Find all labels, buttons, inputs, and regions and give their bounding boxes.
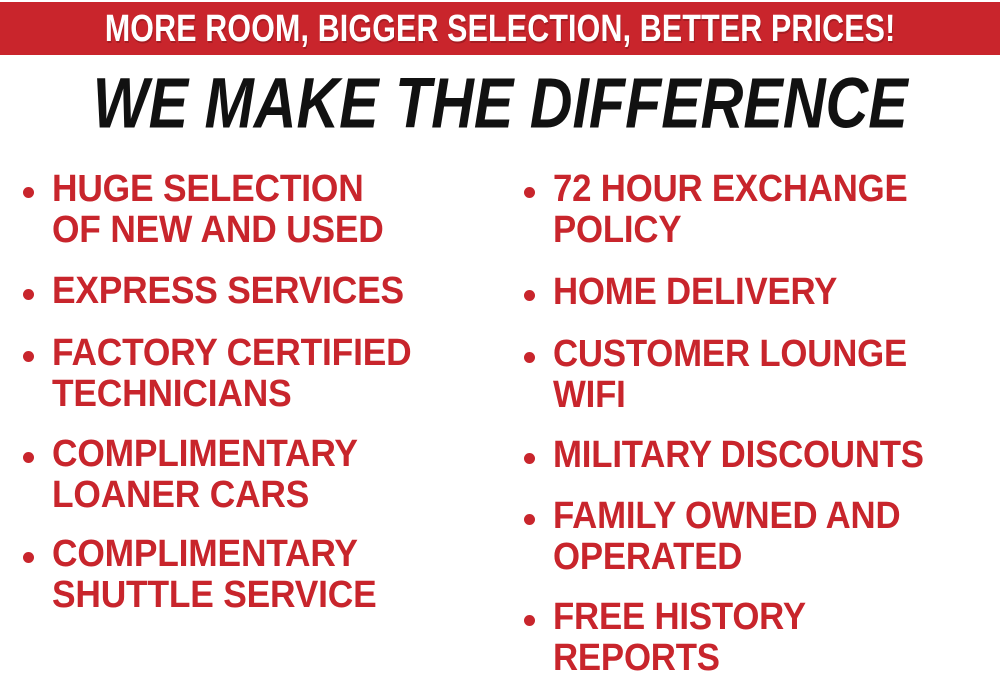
benefit-item: COMPLIMENTARY SHUTTLE SERVICE <box>14 534 401 616</box>
promo-banner-text: MORE ROOM, BIGGER SELECTION, BETTER PRIC… <box>105 10 896 48</box>
benefit-label: 72 HOUR EXCHANGE POLICY <box>553 169 908 251</box>
bullet-dot-icon <box>23 289 34 300</box>
bullet-dot-icon <box>524 615 535 626</box>
benefit-label: FACTORY CERTIFIED TECHNICIANS <box>52 333 411 415</box>
benefit-item: COMPLIMENTARY LOANER CARS <box>14 434 381 516</box>
bullet-dot-icon <box>23 552 34 563</box>
benefit-item: HUGE SELECTION OF NEW AND USED <box>14 169 409 251</box>
benefit-item: MILITARY DISCOUNTS <box>515 435 958 476</box>
benefit-label: HUGE SELECTION OF NEW AND USED <box>52 169 384 251</box>
benefit-item: HOME DELIVERY <box>515 272 864 313</box>
bullet-dot-icon <box>524 514 535 525</box>
benefit-label: HOME DELIVERY <box>553 272 837 313</box>
benefit-item: 72 HOUR EXCHANGE POLICY <box>515 169 940 251</box>
bullet-dot-icon <box>524 187 535 198</box>
advertisement-poster: MORE ROOM, BIGGER SELECTION, BETTER PRIC… <box>0 0 1000 694</box>
benefit-item: EXPRESS SERVICES <box>14 271 430 312</box>
bullet-dot-icon <box>524 352 535 363</box>
benefit-label: EXPRESS SERVICES <box>52 271 404 312</box>
bullet-dot-icon <box>23 351 34 362</box>
benefits-columns: HUGE SELECTION OF NEW AND USED EXPRESS S… <box>0 155 1000 694</box>
benefit-item: FACTORY CERTIFIED TECHNICIANS <box>14 333 439 415</box>
bullet-dot-icon <box>23 187 34 198</box>
benefit-item: FREE HISTORY REPORTS <box>515 597 829 679</box>
bullet-dot-icon <box>524 453 535 464</box>
promo-banner: MORE ROOM, BIGGER SELECTION, BETTER PRIC… <box>0 2 1000 55</box>
benefit-label: FREE HISTORY REPORTS <box>553 597 806 679</box>
benefit-label: FAMILY OWNED AND OPERATED <box>553 496 900 578</box>
benefit-label: COMPLIMENTARY SHUTTLE SERVICE <box>52 534 376 616</box>
bullet-dot-icon <box>23 452 34 463</box>
headline: WE MAKE THE DIFFERENCE <box>0 66 1000 140</box>
benefit-label: MILITARY DISCOUNTS <box>553 435 924 476</box>
headline-text: WE MAKE THE DIFFERENCE <box>93 67 908 138</box>
benefit-label: CUSTOMER LOUNGE WIFI <box>553 334 907 416</box>
benefit-item: FAMILY OWNED AND OPERATED <box>515 496 933 578</box>
bullet-dot-icon <box>524 290 535 301</box>
benefit-label: COMPLIMENTARY LOANER CARS <box>52 434 358 516</box>
benefit-item: CUSTOMER LOUNGE WIFI <box>515 334 940 416</box>
